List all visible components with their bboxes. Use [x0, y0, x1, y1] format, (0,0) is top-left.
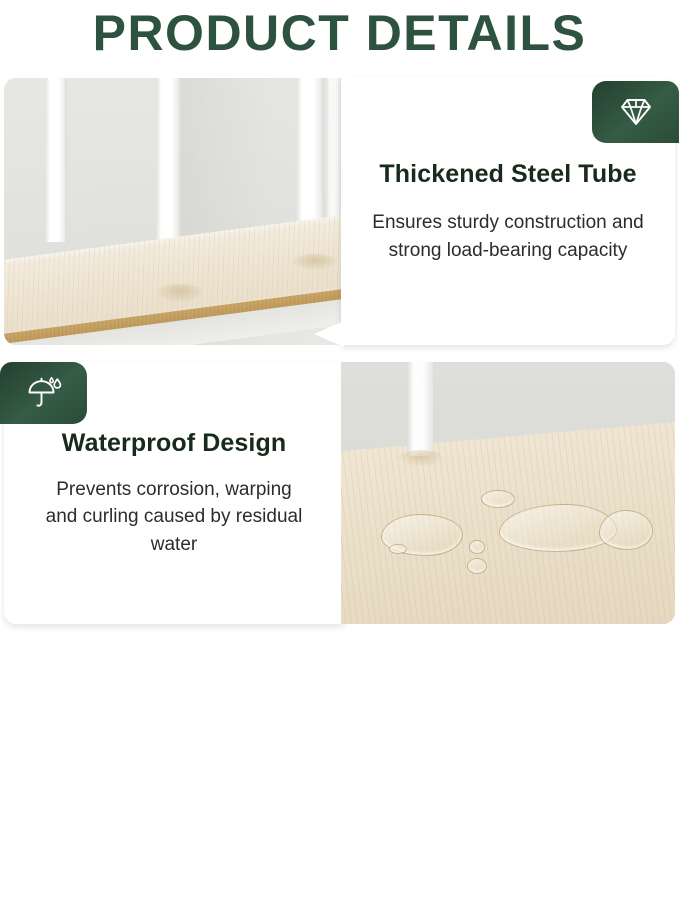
water-droplet: [467, 558, 487, 574]
callout-arrow-left: [314, 321, 344, 347]
steel-tube-leg: [45, 78, 67, 242]
callout-arrow-right: [341, 875, 371, 901]
diamond-icon: [619, 97, 653, 127]
water-droplet: [389, 544, 407, 554]
page-title: PRODUCT DETAILS: [0, 0, 679, 66]
steel-tube-leg: [156, 78, 181, 246]
feature-heading: Waterproof Design: [62, 428, 286, 458]
feature-photo-waterproof: [341, 362, 675, 624]
water-droplet: [599, 510, 653, 550]
badge-thickened-steel-tube: [592, 81, 679, 143]
water-droplet: [481, 490, 515, 508]
feature-description: Prevents corrosion, warping and curling …: [42, 476, 307, 559]
feature-heading: Thickened Steel Tube: [379, 159, 636, 189]
tube-contact-shadow: [399, 450, 443, 466]
feature-panel-waterproof-design: Waterproof Design Prevents corrosion, wa…: [4, 362, 675, 624]
water-droplet: [469, 540, 485, 554]
badge-waterproof-design: [0, 362, 87, 424]
tube-contact-shadow: [156, 284, 204, 302]
steel-tube-leg: [407, 362, 433, 456]
feature-panel-thickened-steel-tube: Thickened Steel Tube Ensures sturdy cons…: [4, 78, 675, 345]
feature-photo-steel-tube: [4, 78, 344, 345]
umbrella-rain-icon: [26, 377, 62, 409]
product-details-infographic: PRODUCT DETAILS Thickened Steel Tube Ens…: [0, 0, 679, 631]
feature-description: Ensures sturdy construction and strong l…: [371, 209, 646, 264]
tube-contact-shadow: [292, 254, 338, 270]
